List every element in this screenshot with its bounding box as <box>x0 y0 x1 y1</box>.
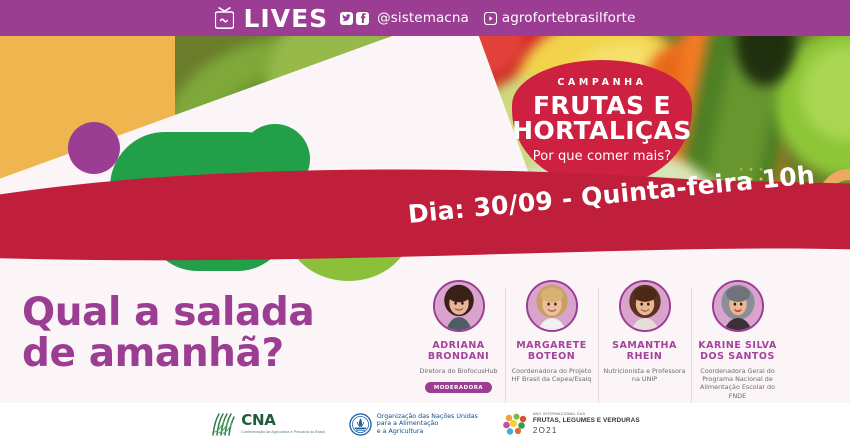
footer-logos: CNA Confederação da Agricultura e Pecuár… <box>0 403 850 445</box>
speaker-name-line2: RHEIN <box>602 351 687 362</box>
cna-logo: CNA Confederação da Agricultura e Pecuár… <box>210 412 325 436</box>
speaker-role: Coordenadora do Projeto HF Brasil da Cep… <box>509 367 594 383</box>
speaker-name-line1: MARGARETE <box>509 340 594 351</box>
speaker-name: ADRIANA BRONDANI <box>416 340 501 362</box>
campaign-kicker: CAMPANHA <box>512 77 692 88</box>
fruits-vegetables-icon <box>502 412 528 436</box>
speaker-role: Nutricionista e Professora na UNIP <box>602 367 687 383</box>
avatar <box>712 280 764 332</box>
speaker-name: KARINE SILVA DOS SANTOS <box>695 340 780 362</box>
campaign-subtitle: Por que comer mais? <box>512 149 692 164</box>
speaker-name: MARGARETE BOTEON <box>509 340 594 362</box>
cna-leaf-icon <box>210 412 236 436</box>
iyfv-kicker: ANO INTERNACIONAL DAS <box>533 413 640 417</box>
speaker-card: SAMANTHA RHEIN Nutricionista e Professor… <box>598 280 691 403</box>
title-line-1: Qual a salada <box>22 292 314 333</box>
speaker-name-line2: BOTEON <box>509 351 594 362</box>
page-title: Qual a salada de amanhã? <box>22 292 314 374</box>
fao-line-1: Organização das Nações Unidas <box>377 413 478 421</box>
speaker-name-line2: BRONDANI <box>416 351 501 362</box>
avatar <box>526 280 578 332</box>
status-badge: MODERADORA <box>425 382 492 393</box>
campaign-line2: HORTALIÇAS <box>512 118 692 143</box>
fao-emblem-icon <box>349 413 372 436</box>
youtube-icon[interactable] <box>484 12 497 25</box>
speaker-card: ADRIANA BRONDANI Diretora do BiofocusHub… <box>412 280 505 403</box>
top-header-bar: LIVES @sistemacna agrofortebrasilforte <box>0 0 850 36</box>
lives-label: LIVES <box>244 6 329 31</box>
speaker-role: Diretora do BiofocusHub <box>416 367 501 375</box>
fao-text: Organização das Nações Unidas para a Ali… <box>377 413 478 436</box>
twitter-icon[interactable] <box>340 12 353 25</box>
speaker-name-line1: KARINE SILVA <box>695 340 780 351</box>
speaker-role: Coordenadora Geral do Programa Nacional … <box>695 367 780 400</box>
youtube-channel[interactable]: agrofortebrasilforte <box>502 10 636 26</box>
igtv-icon <box>215 7 234 29</box>
facebook-icon[interactable] <box>356 12 369 25</box>
green-blob-3 <box>240 124 310 194</box>
artwork-area: Dia: 30/09 - Quinta-feira 10h CAMPANHA F… <box>0 36 850 403</box>
avatar <box>433 280 485 332</box>
fao-line-3: e a Agricultura <box>377 428 478 436</box>
speaker-list: ADRIANA BRONDANI Diretora do BiofocusHub… <box>412 280 784 403</box>
iyfv-year: 2O21 <box>533 427 640 435</box>
fao-logo: Organização das Nações Unidas para a Ali… <box>349 413 478 436</box>
lives-promo-banner: LIVES @sistemacna agrofortebrasilforte <box>0 0 850 445</box>
purple-circle-blob <box>68 122 120 174</box>
fao-line-2: para a Alimentação <box>377 420 478 428</box>
twitter-handle[interactable]: @sistemacna <box>377 10 469 26</box>
speaker-name-line1: ADRIANA <box>416 340 501 351</box>
cna-subtitle: Confederação da Agricultura e Pecuária d… <box>241 430 325 435</box>
iyfv-logo: ANO INTERNACIONAL DAS FRUTAS, LEGUMES E … <box>502 412 640 436</box>
title-line-2: de amanhã? <box>22 333 314 374</box>
speaker-name-line2: DOS SANTOS <box>695 351 780 362</box>
iyfv-main: FRUTAS, LEGUMES E VERDURAS <box>533 418 640 424</box>
cna-acronym: CNA <box>241 413 325 428</box>
campaign-line1: FRUTAS E <box>512 93 692 118</box>
speaker-name-line1: SAMANTHA <box>602 340 687 351</box>
speaker-card: MARGARETE BOTEON Coordenadora do Projeto… <box>505 280 598 403</box>
speaker-name: SAMANTHA RHEIN <box>602 340 687 362</box>
avatar <box>619 280 671 332</box>
speaker-card: KARINE SILVA DOS SANTOS Coordenadora Ger… <box>691 280 784 403</box>
